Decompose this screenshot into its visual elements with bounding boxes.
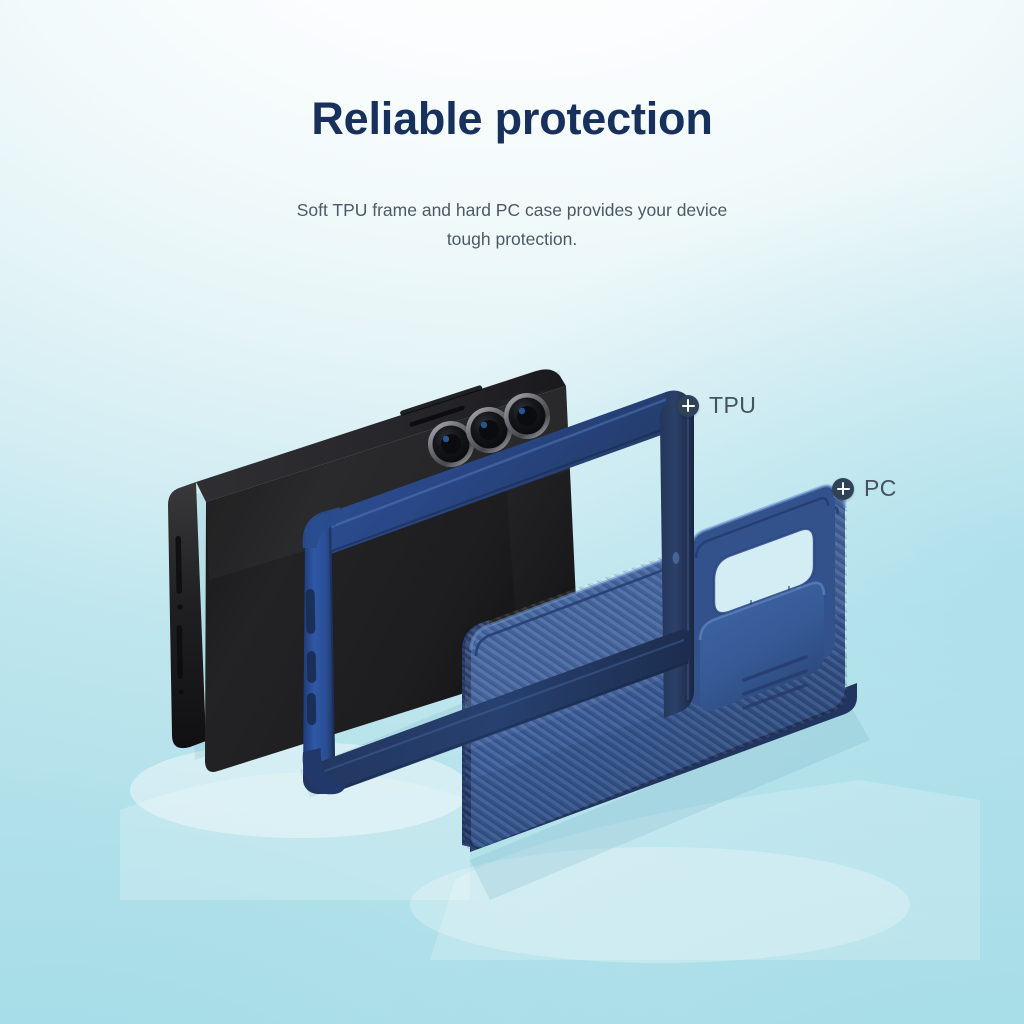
callout-pc-label: PC — [864, 475, 897, 502]
plus-circle-icon[interactable] — [677, 395, 699, 417]
callout-tpu-label: TPU — [709, 392, 756, 419]
tpu-button-cutouts — [306, 589, 317, 725]
subtitle-line-2: tough protection. — [0, 225, 1024, 254]
product-feature-image: Reliable protection Soft TPU frame and h… — [0, 0, 1024, 1024]
page-title: Reliable protection — [0, 94, 1024, 144]
subtitle-line-1: Soft TPU frame and hard PC case provides… — [297, 200, 728, 220]
plus-circle-icon[interactable] — [832, 478, 854, 500]
callout-tpu[interactable]: TPU — [677, 392, 756, 419]
product-exploded-view — [0, 0, 1024, 1024]
callout-pc[interactable]: PC — [832, 475, 897, 502]
camera-lens-3 — [504, 393, 550, 439]
page-subtitle: Soft TPU frame and hard PC case provides… — [0, 196, 1024, 255]
